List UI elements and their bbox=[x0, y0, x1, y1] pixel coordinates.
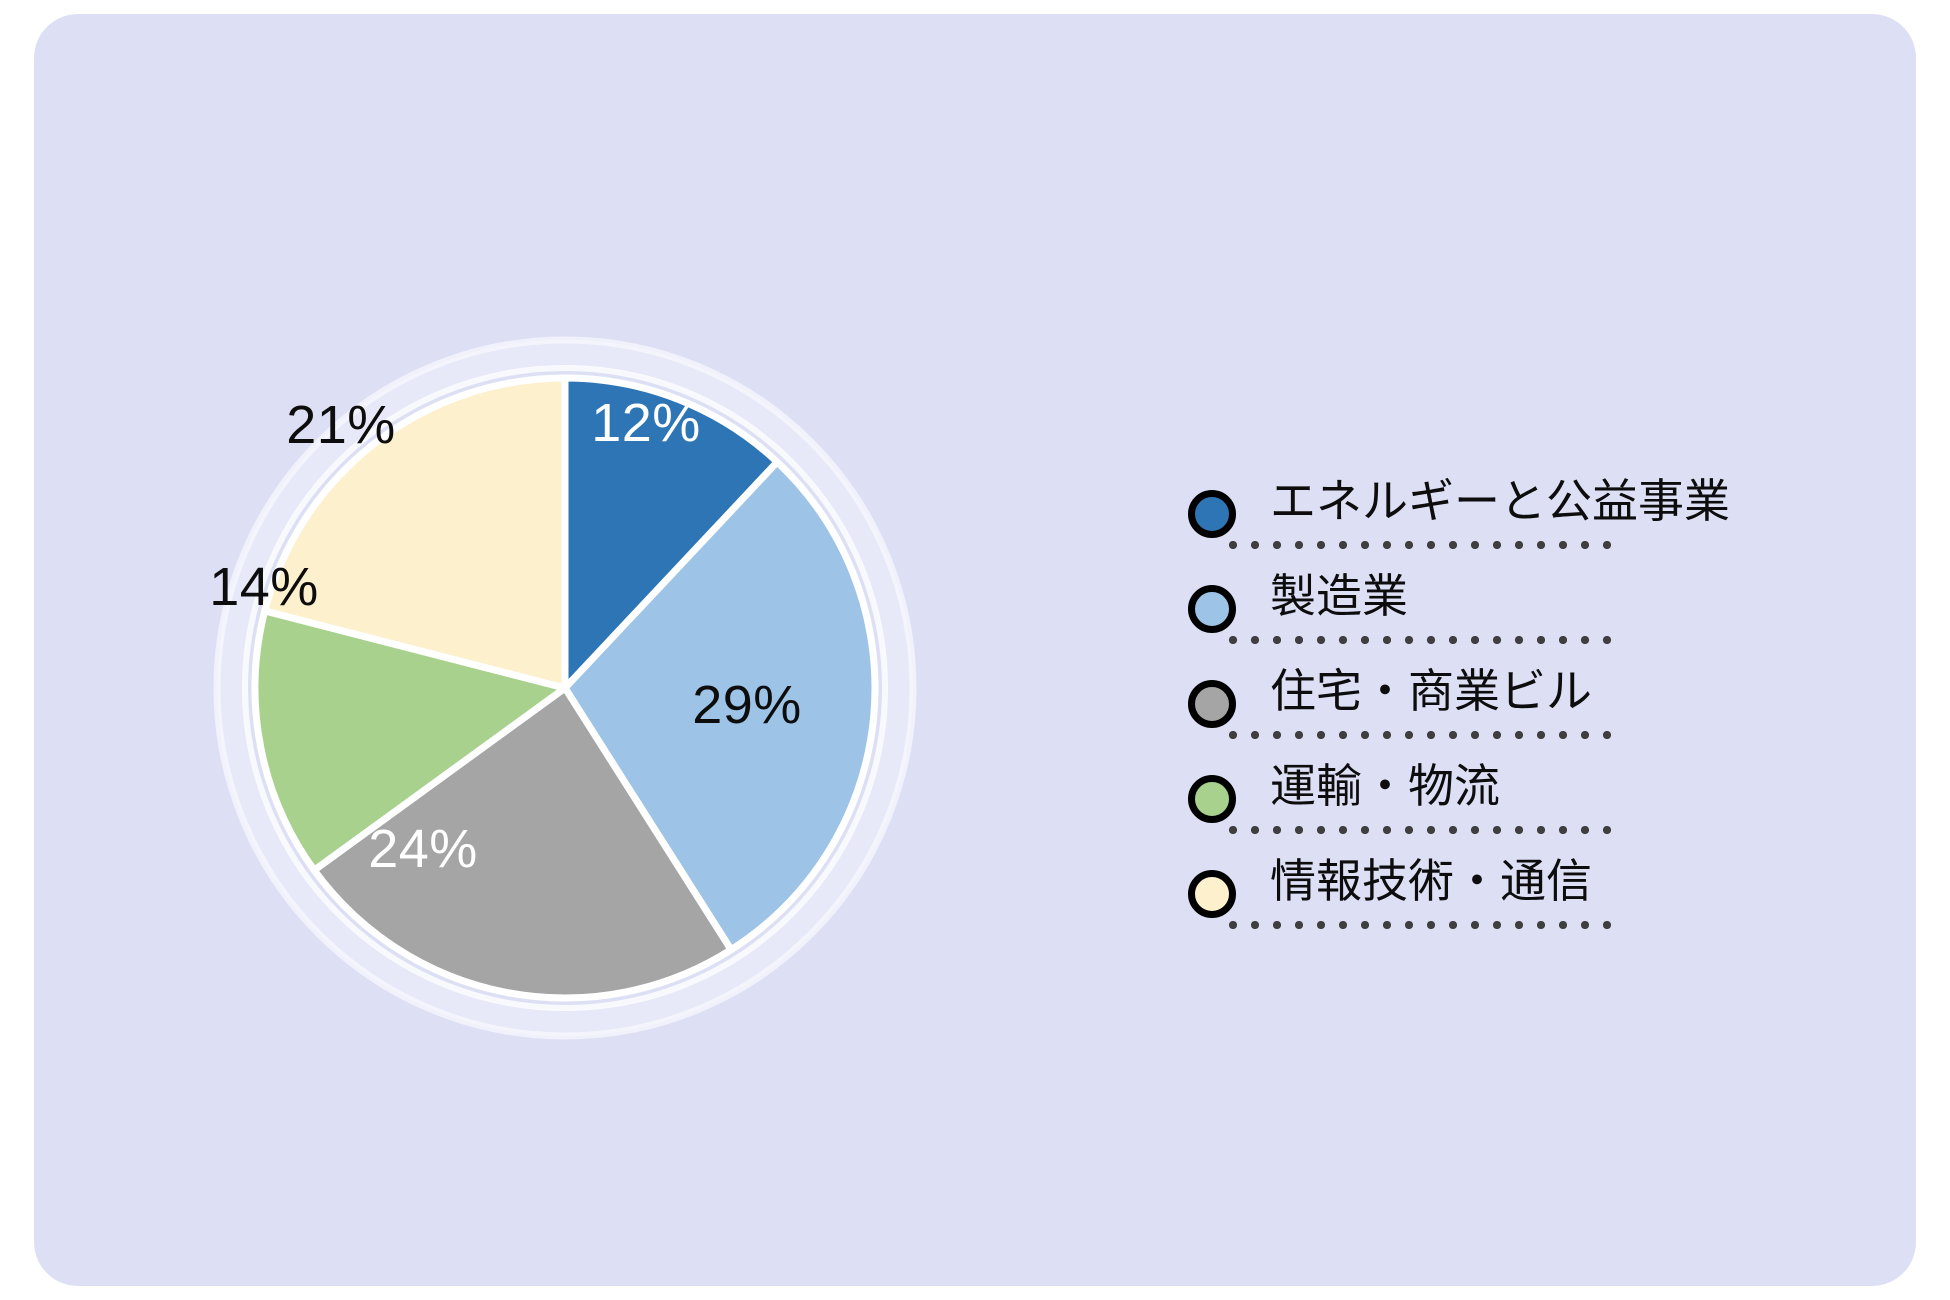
legend-item-label: 情報技術・通信 bbox=[1270, 850, 1592, 912]
legend-item-transport-logistics[interactable]: 運輸・物流 bbox=[1170, 747, 1810, 842]
legend-item-label: 製造業 bbox=[1270, 565, 1408, 627]
legend-item-it-telecom[interactable]: 情報技術・通信 bbox=[1170, 842, 1810, 937]
legend-color-swatch-icon bbox=[1188, 870, 1236, 918]
chart-legend: エネルギーと公益事業 製造業 住宅・商業ビル 運輸・物流 情報技術・通信 bbox=[1170, 462, 1810, 937]
legend-color-swatch-icon bbox=[1188, 775, 1236, 823]
legend-item-residential-commercial-buildings[interactable]: 住宅・商業ビル bbox=[1170, 652, 1810, 747]
legend-dotted-leader-line bbox=[1222, 731, 1622, 739]
pie-chart: 12%29%24%14%21% bbox=[180, 303, 950, 1073]
legend-dotted-leader-line bbox=[1222, 826, 1622, 834]
legend-color-swatch-icon bbox=[1188, 490, 1236, 538]
pie-slices[interactable] bbox=[180, 303, 950, 1073]
legend-item-energy-utilities[interactable]: エネルギーと公益事業 bbox=[1170, 462, 1810, 557]
legend-item-label: 住宅・商業ビル bbox=[1270, 660, 1592, 722]
legend-color-swatch-icon bbox=[1188, 680, 1236, 728]
chart-canvas: 12%29%24%14%21% エネルギーと公益事業 製造業 住宅・商業ビル 運… bbox=[0, 0, 1950, 1300]
legend-color-swatch-icon bbox=[1188, 585, 1236, 633]
legend-dotted-leader-line bbox=[1222, 636, 1622, 644]
legend-dotted-leader-line bbox=[1222, 541, 1622, 549]
legend-dotted-leader-line bbox=[1222, 921, 1622, 929]
legend-item-manufacturing[interactable]: 製造業 bbox=[1170, 557, 1810, 652]
legend-item-label: 運輸・物流 bbox=[1270, 755, 1500, 817]
legend-item-label: エネルギーと公益事業 bbox=[1270, 470, 1730, 532]
